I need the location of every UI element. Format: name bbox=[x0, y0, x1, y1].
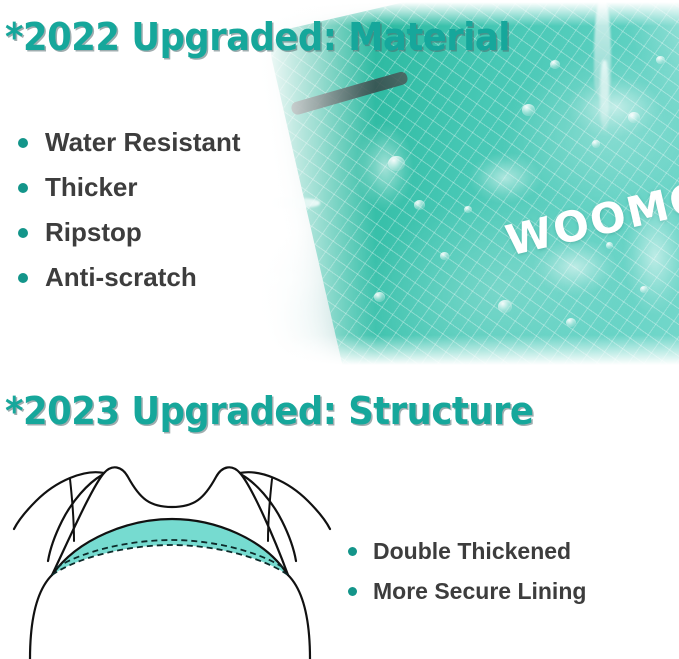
water-splash bbox=[566, 76, 662, 138]
lining-fill bbox=[52, 519, 288, 575]
water-droplet bbox=[522, 104, 535, 116]
water-droplet bbox=[414, 200, 425, 210]
material-feature-list: Water Resistant Thicker Ripstop Anti-scr… bbox=[18, 120, 241, 300]
water-droplet bbox=[606, 242, 613, 249]
strap-left-outer bbox=[14, 472, 104, 529]
product-feature-infographic: WOOMO bbox=[0, 0, 679, 659]
list-item: Double Thickened bbox=[348, 531, 586, 571]
water-droplet bbox=[388, 156, 405, 171]
water-droplet bbox=[464, 206, 472, 213]
feature-label: Water Resistant bbox=[45, 127, 241, 158]
list-item: Water Resistant bbox=[18, 120, 241, 165]
water-droplet bbox=[640, 286, 648, 293]
water-droplet bbox=[566, 318, 576, 327]
feature-label: Ripstop bbox=[45, 217, 142, 248]
diagram-svg bbox=[0, 445, 340, 659]
feature-label: Anti-scratch bbox=[45, 262, 197, 293]
strap-right-outer bbox=[240, 472, 330, 529]
water-droplet bbox=[592, 140, 600, 148]
water-droplet bbox=[498, 300, 512, 313]
water-droplet bbox=[440, 252, 449, 260]
list-item: Ripstop bbox=[18, 210, 241, 255]
backpack-structure-diagram bbox=[0, 445, 340, 659]
bullet-dot-icon bbox=[18, 228, 28, 238]
material-section: WOOMO bbox=[0, 0, 679, 375]
water-droplet bbox=[656, 56, 665, 64]
list-item: Thicker bbox=[18, 165, 241, 210]
feature-label: Double Thickened bbox=[373, 538, 571, 565]
bullet-dot-icon bbox=[18, 273, 28, 283]
water-droplet bbox=[550, 60, 560, 69]
material-heading: *2022 Upgraded: Material bbox=[5, 18, 510, 56]
list-item: Anti-scratch bbox=[18, 255, 241, 300]
water-splash bbox=[468, 152, 542, 204]
structure-heading: *2023 Upgraded: Structure bbox=[5, 392, 533, 430]
water-droplet bbox=[628, 112, 640, 123]
bullet-dot-icon bbox=[18, 138, 28, 148]
bullet-dot-icon bbox=[348, 547, 357, 556]
feature-label: Thicker bbox=[45, 172, 138, 203]
bullet-dot-icon bbox=[348, 587, 357, 596]
water-splash bbox=[532, 238, 618, 296]
photo-bottom-fade bbox=[236, 335, 679, 375]
list-item: More Secure Lining bbox=[348, 571, 586, 611]
bullet-dot-icon bbox=[18, 183, 28, 193]
structure-feature-list: Double Thickened More Secure Lining bbox=[348, 531, 586, 611]
feature-label: More Secure Lining bbox=[373, 578, 586, 605]
